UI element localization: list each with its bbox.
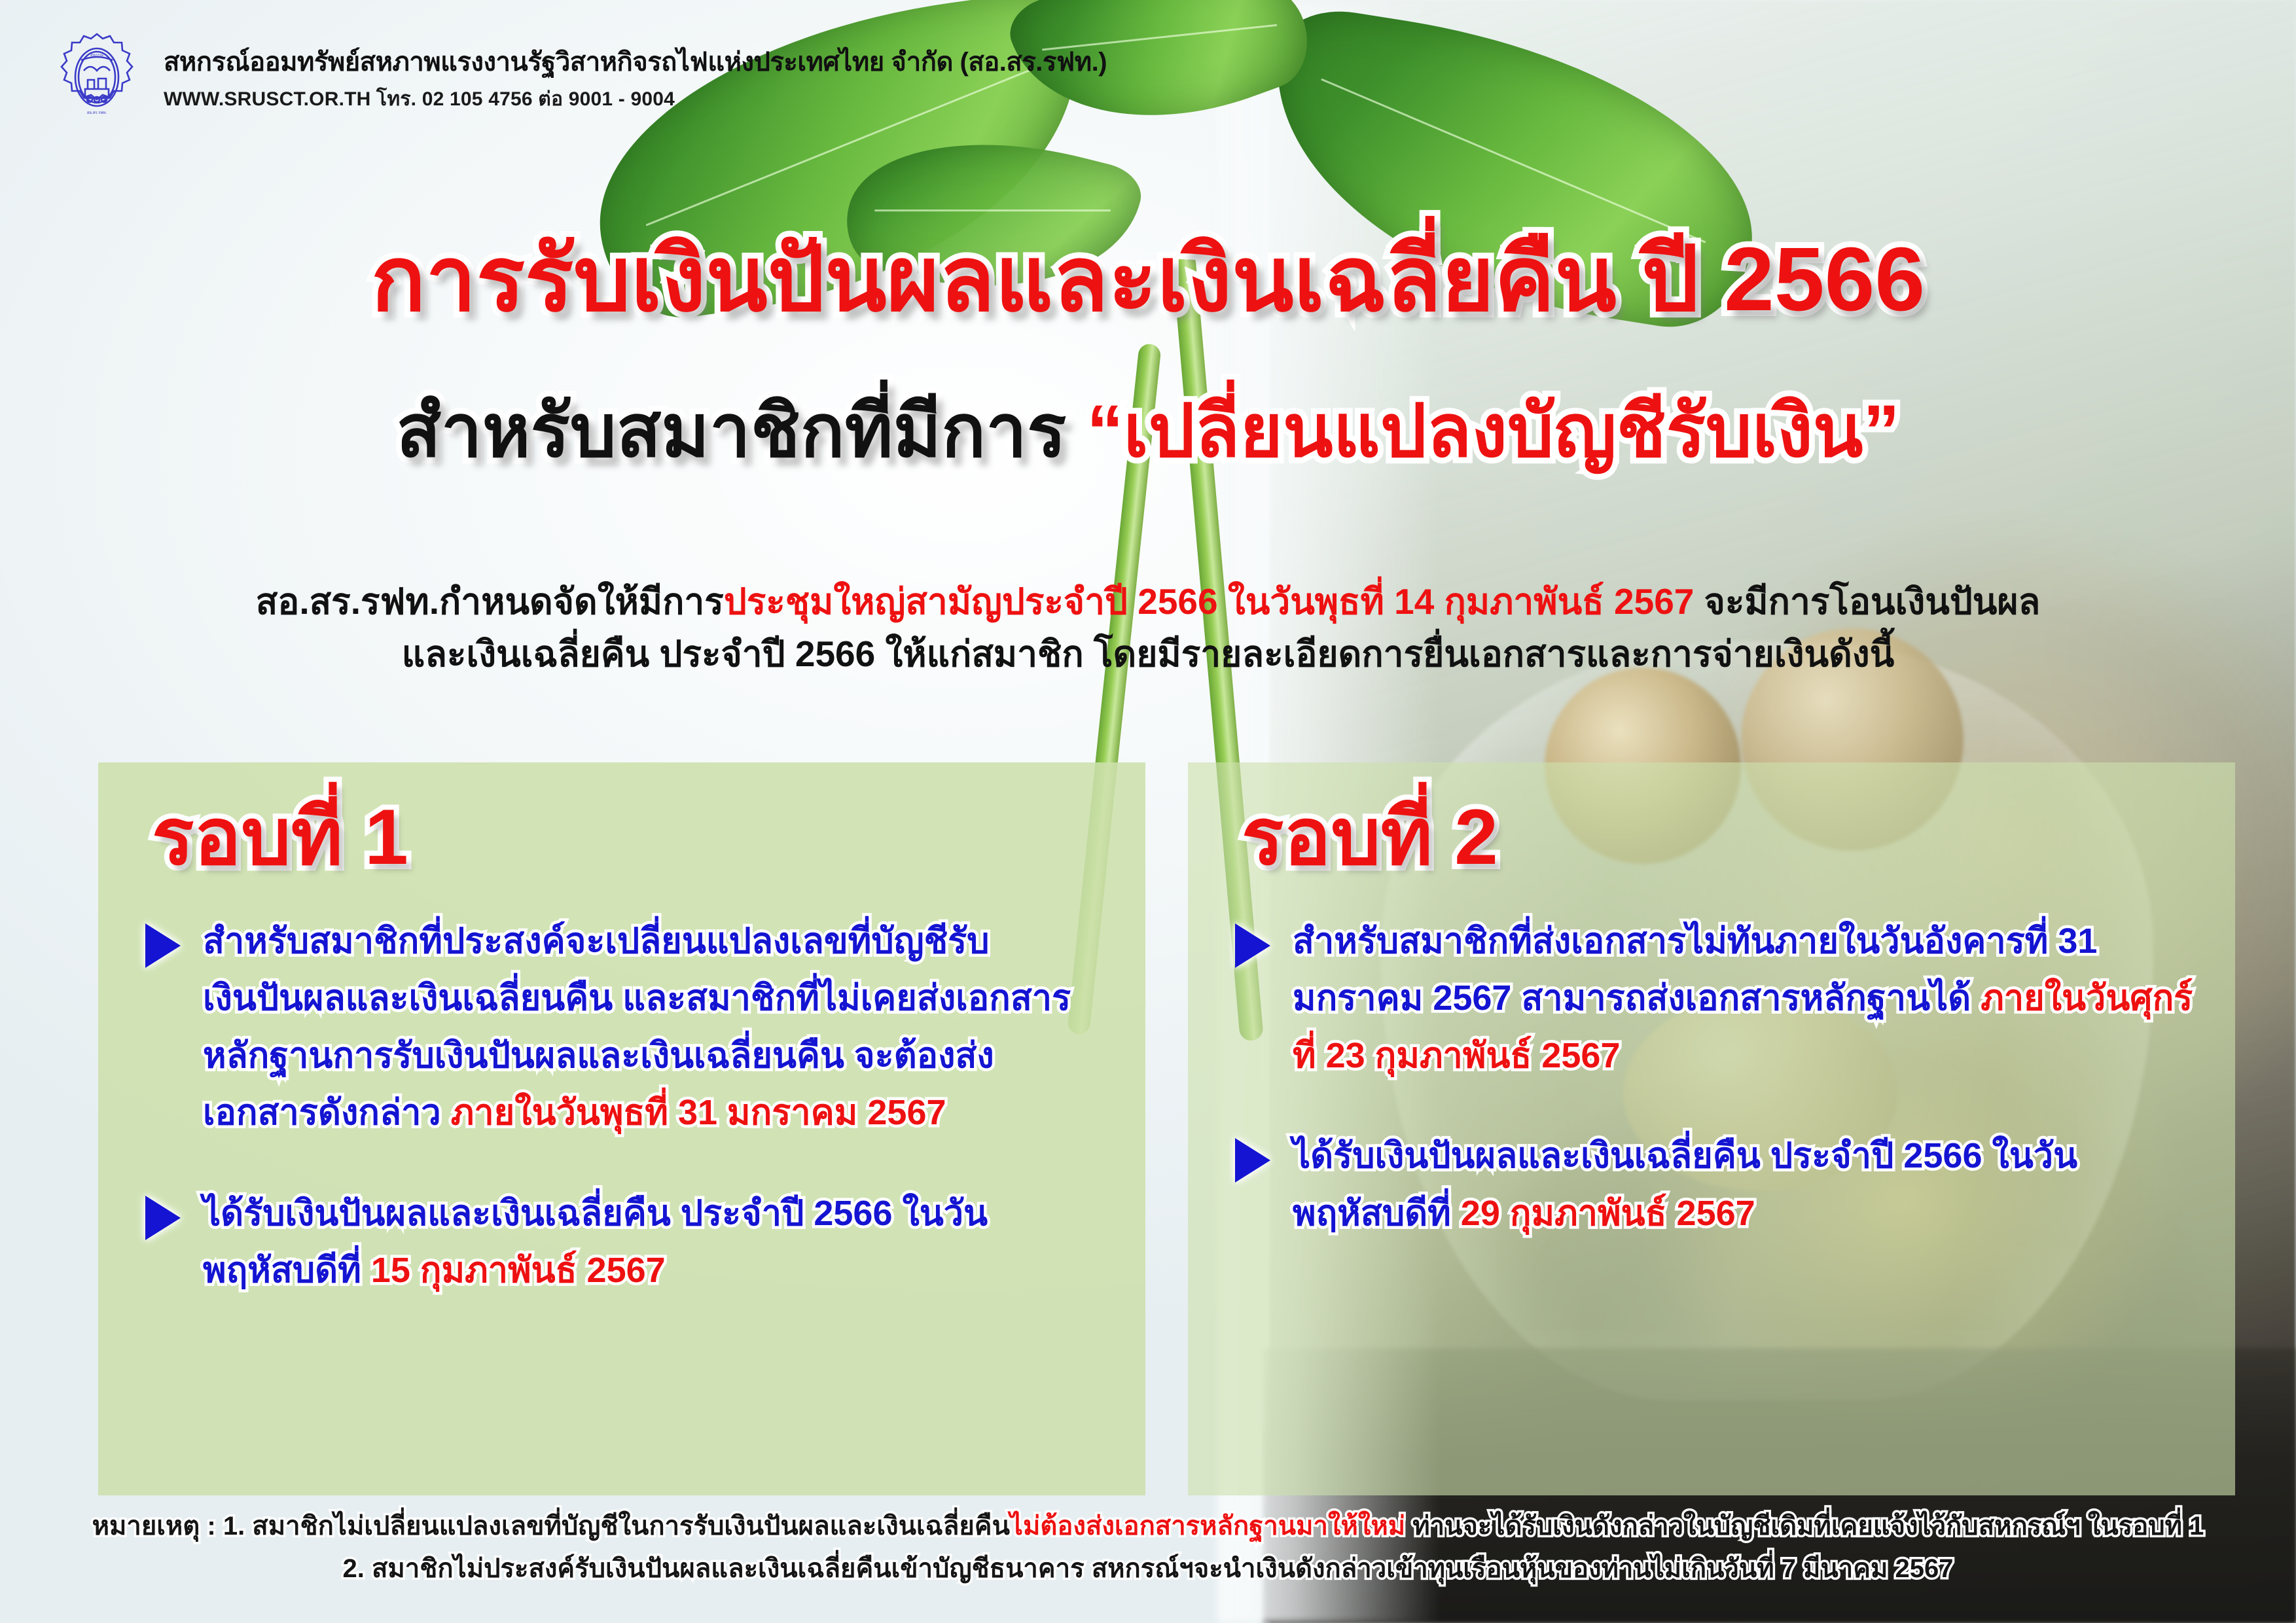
triangle-bullet-icon bbox=[1235, 923, 1270, 968]
triangle-bullet-icon bbox=[145, 923, 181, 968]
note-1-part2: ท่านจะได้รับเงินดังกล่าวในบัญชีเดิมที่เค… bbox=[1405, 1512, 2204, 1541]
list-item: ได้รับเงินปันผลและเงินเฉลี่ยคืน ประจำปี … bbox=[1227, 1128, 2196, 1242]
organization-name: สหกรณ์ออมทรัพย์สหภาพแรงงานรัฐวิสาหกิจรถไ… bbox=[164, 41, 1107, 82]
intro-line1-highlight: ประชุมใหญ่สามัญประจำปี 2566 ในวันพุธที่ … bbox=[724, 581, 1695, 622]
note-row-2: 2. สมาชิกไม่ประสงค์รับเงินปันผลและเงินเฉ… bbox=[0, 1548, 2296, 1590]
round-2-panel: รอบที่ 2 สำหรับสมาชิกที่ส่งเอกสารไม่ทันภ… bbox=[1188, 762, 2235, 1495]
svg-text:สอ.สร.รฟท.: สอ.สร.รฟท. bbox=[87, 111, 107, 115]
intro-line1-part1: สอ.สร.รฟท.กำหนดจัดให้มีการ bbox=[256, 581, 724, 622]
bullet-red-text: 29 กุมภาพันธ์ 2567 bbox=[1461, 1194, 1755, 1233]
round-1-panel: รอบที่ 1 สำหรับสมาชิกที่ประสงค์จะเปลี่ยน… bbox=[98, 762, 1145, 1495]
footer-notes: หมายเหตุ : 1. สมาชิกไม่เปลี่ยนแปลงเลขที่… bbox=[0, 1505, 2296, 1590]
round-1-title: รอบที่ 1 bbox=[152, 794, 1106, 880]
note-1-highlight: ไม่ต้องส่งเอกสารหลักฐานมาให้ใหม่ bbox=[1010, 1512, 1405, 1541]
list-item: สำหรับสมาชิกที่ประสงค์จะเปลี่ยนแปลงเลขที… bbox=[137, 913, 1106, 1142]
round-2-bullet-2-text: ได้รับเงินปันผลและเงินเฉลี่ยคืน ประจำปี … bbox=[1293, 1128, 2196, 1242]
organization-contact: WWW.SRUSCT.OR.TH โทร. 02 105 4756 ต่อ 90… bbox=[164, 84, 675, 115]
triangle-bullet-icon bbox=[1235, 1138, 1270, 1183]
title-line1-text: การรับเงินปันผลและเงินเฉลี่ยคืน ปี 2566 bbox=[371, 229, 1925, 330]
round-1-bullet-list: สำหรับสมาชิกที่ประสงค์จะเปลี่ยนแปลงเลขที… bbox=[137, 913, 1106, 1300]
bullet-red-text: 15 กุมภาพันธ์ 2567 bbox=[371, 1251, 666, 1290]
intro-line1-part2: จะมีการโอนเงินปันผล bbox=[1694, 581, 2040, 622]
page-header: สหกรณ์ สอ.สร.รฟท. สหกรณ์ออมทรัพย์สหภาพแร… bbox=[0, 0, 2296, 151]
list-item: ได้รับเงินปันผลและเงินเฉลี่ยคืน ประจำปี … bbox=[137, 1185, 1106, 1300]
round-2-bullet-list: สำหรับสมาชิกที่ส่งเอกสารไม่ทันภายในวันอั… bbox=[1227, 913, 2196, 1242]
page-title-line1: การรับเงินปันผลและเงินเฉลี่ยคืน ปี 2566 bbox=[0, 232, 2296, 327]
round-1-bullet-2-text: ได้รับเงินปันผลและเงินเฉลี่ยคืน ประจำปี … bbox=[203, 1185, 1106, 1300]
title-line2-prefix: สำหรับสมาชิกที่มีการ bbox=[397, 390, 1087, 472]
page-title-line2: สำหรับสมาชิกที่มีการ “เปลี่ยนแปลงบัญชีรั… bbox=[0, 393, 2296, 470]
round-1-bullet-1-text: สำหรับสมาชิกที่ประสงค์จะเปลี่ยนแปลงเลขที… bbox=[203, 913, 1106, 1142]
round-2-title: รอบที่ 2 bbox=[1242, 794, 2196, 880]
cooperative-logo-icon: สหกรณ์ สอ.สร.รฟท. bbox=[51, 31, 143, 123]
svg-text:สหกรณ์: สหกรณ์ bbox=[90, 52, 103, 58]
list-item: สำหรับสมาชิกที่ส่งเอกสารไม่ทันภายในวันอั… bbox=[1227, 913, 2196, 1084]
intro-paragraph: สอ.สร.รฟท.กำหนดจัดให้มีการประชุมใหญ่สามั… bbox=[0, 576, 2296, 681]
round-2-bullet-1-text: สำหรับสมาชิกที่ส่งเอกสารไม่ทันภายในวันอั… bbox=[1293, 913, 2196, 1084]
title-line2-quoted: “เปลี่ยนแปลงบัญชีรับเงิน” bbox=[1086, 390, 1899, 472]
triangle-bullet-icon bbox=[145, 1196, 181, 1240]
note-row-1: หมายเหตุ : 1. สมาชิกไม่เปลี่ยนแปลงเลขที่… bbox=[0, 1505, 2296, 1548]
intro-line2: และเงินเฉลี่ยคืน ประจำปี 2566 ให้แก่สมาช… bbox=[0, 628, 2296, 681]
bullet-red-text: ภายในวันพุธที่ 31 มกราคม 2567 bbox=[451, 1093, 946, 1132]
bullet-blue-text: สำหรับสมาชิกที่ส่งเอกสารไม่ทันภายในวันอั… bbox=[1293, 921, 2097, 1018]
note-1-part1: หมายเหตุ : 1. สมาชิกไม่เปลี่ยนแปลงเลขที่… bbox=[92, 1512, 1010, 1541]
